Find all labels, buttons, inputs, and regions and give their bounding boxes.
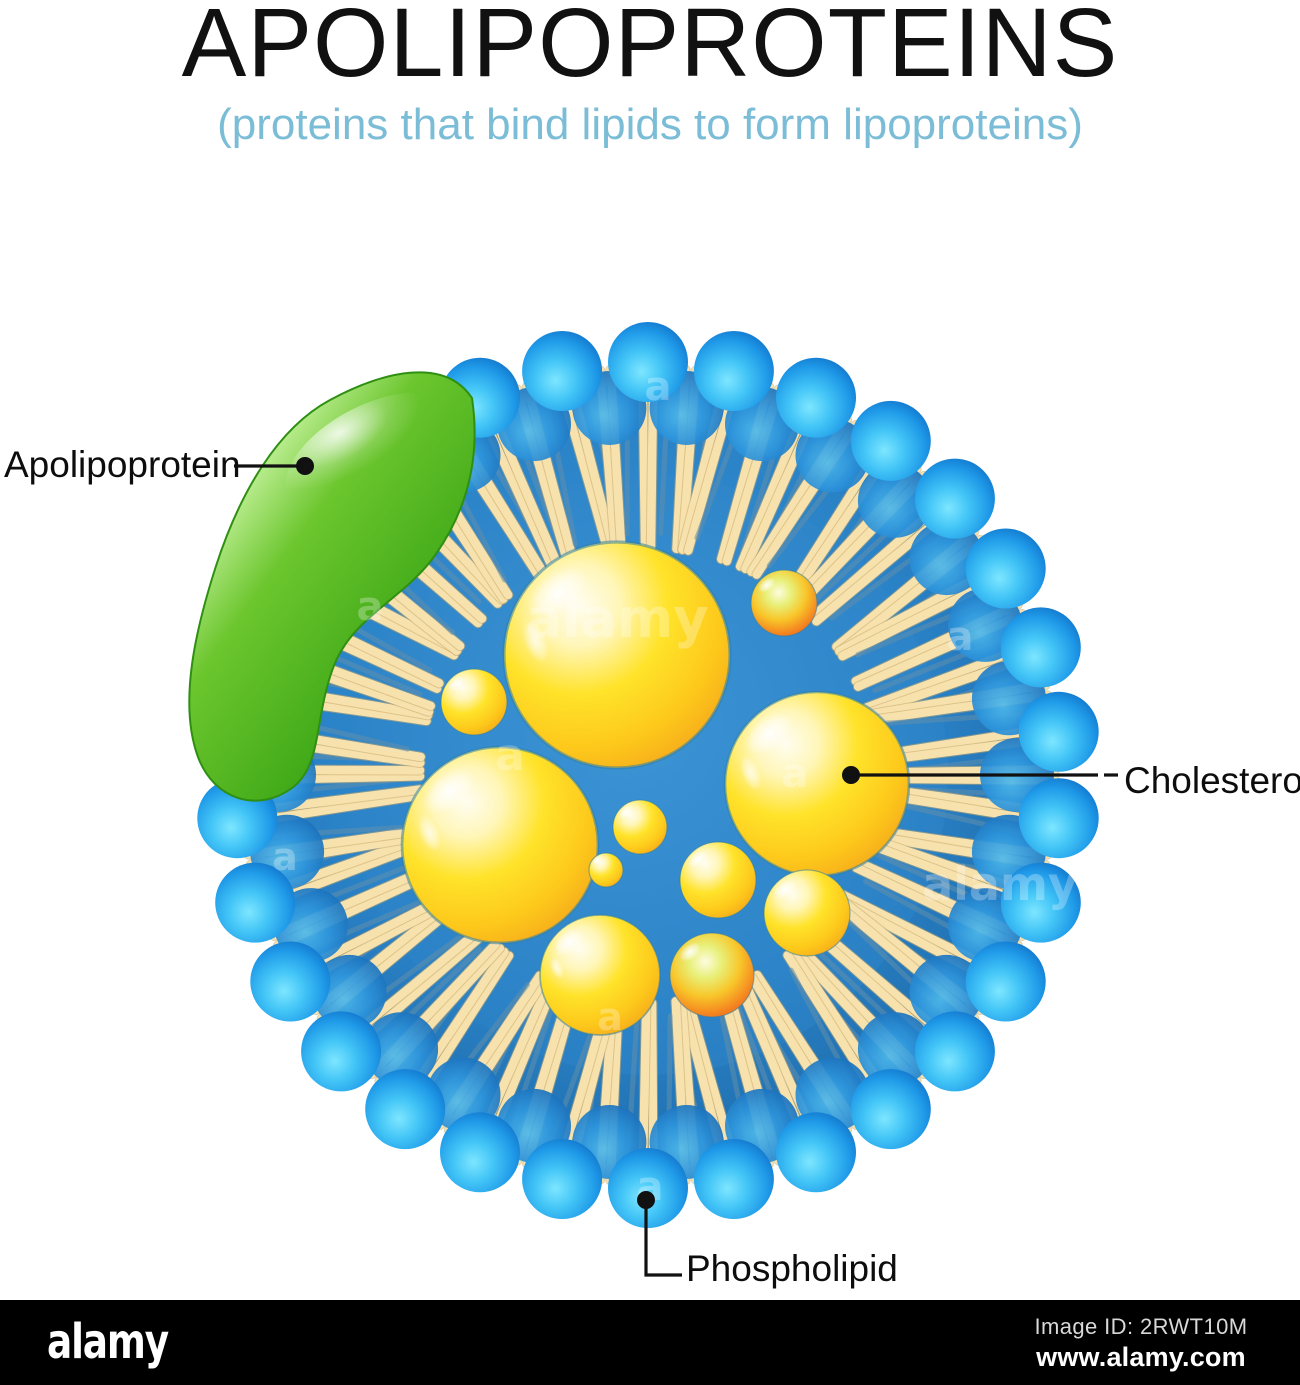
phospholipid-head (440, 1112, 520, 1192)
cholesterol-droplet (725, 692, 909, 876)
alamy-watermark: a (495, 730, 525, 781)
phospholipid-head (301, 1011, 381, 1091)
alamy-url-text: www.alamy.com (1016, 1342, 1266, 1373)
phospholipid-head (1001, 607, 1081, 687)
phospholipid-head (776, 1112, 856, 1192)
image-id-text: Image ID: 2RWT10M (1016, 1314, 1266, 1340)
phospholipid-head (966, 942, 1046, 1022)
alamy-watermark: alamy (922, 857, 1078, 911)
cholesterol-droplet-body (670, 933, 754, 1017)
phospholipid-head (522, 1139, 602, 1219)
cholesterol-droplet (613, 800, 667, 854)
alamy-watermark: a (357, 584, 384, 630)
phospholipid-head (851, 401, 931, 481)
cholesterol-droplet (670, 933, 754, 1017)
cholesterol-droplet (680, 842, 756, 918)
cholesterol-droplet (764, 870, 850, 956)
cholesterol-droplet (441, 669, 507, 735)
cholesterol-droplet-body (680, 842, 756, 918)
phospholipid-head (365, 1069, 445, 1149)
alamy-watermark: a (782, 751, 809, 797)
lipoprotein-diagram: alamyalamyaaaaaaaa (0, 0, 1300, 1300)
phospholipid-head (915, 459, 995, 539)
cholesterol-droplet (751, 570, 817, 636)
label-apolipoprotein: Apolipoprotein (4, 444, 241, 486)
cholesterol-droplet (504, 542, 730, 768)
lipoprotein-svg: alamyalamyaaaaaaaa (0, 0, 1300, 1300)
cholesterol-droplet-body (613, 800, 667, 854)
phospholipid-head (1019, 778, 1099, 858)
phospholipid-head (915, 1011, 995, 1091)
cholesterol-droplet-body (751, 570, 817, 636)
phospholipid-head (250, 942, 330, 1022)
cholesterol-droplet-body (764, 870, 850, 956)
phospholipid-head (694, 331, 774, 411)
phospholipid-head (1019, 692, 1099, 772)
phospholipid-head (966, 529, 1046, 609)
leader-dot-apolipoprotein (297, 458, 314, 475)
phospholipid-head (694, 1139, 774, 1219)
leader-dot-phospholipid (638, 1192, 655, 1209)
label-phospholipid: Phospholipid (686, 1248, 898, 1290)
alamy-watermark: a (272, 835, 298, 879)
alamy-watermark: a (597, 995, 623, 1039)
alamy-watermark-bar: alamy Image ID: 2RWT10M www.alamy.com (0, 1300, 1300, 1385)
phospholipid-head (522, 331, 602, 411)
cholesterol-droplet-body (589, 853, 623, 887)
phospholipid-head (776, 358, 856, 438)
cholesterol-droplet-body (441, 669, 507, 735)
alamy-watermark: alamy (526, 587, 709, 650)
label-cholesterol: Cholesterol (1124, 760, 1300, 802)
phospholipid-head (851, 1069, 931, 1149)
cholesterol-droplet (589, 853, 623, 887)
alamy-watermark: a (947, 614, 974, 660)
alamy-logo: alamy (47, 1314, 168, 1370)
alamy-watermark: a (645, 364, 672, 410)
